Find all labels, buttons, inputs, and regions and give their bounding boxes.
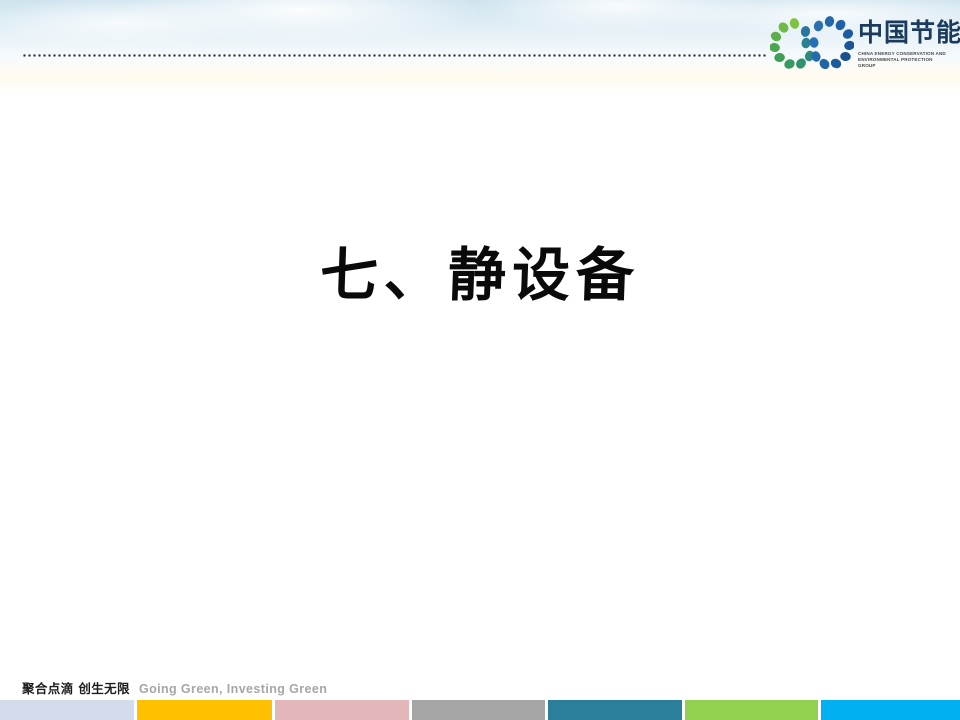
logo-chinese-name: 中国节能: [858, 18, 948, 48]
page-title-container: 七、静设备: [0, 236, 960, 314]
footer-color-bars: [0, 700, 960, 720]
footer-tagline-english: Going Green, Investing Green: [139, 682, 327, 696]
bar-pink: [275, 700, 409, 720]
corporate-logo: 中国节能 CHINA ENERGY CONSERVATION AND ENVIR…: [770, 16, 946, 78]
bar-teal: [548, 700, 682, 720]
bar-amber: [137, 700, 272, 720]
logo-english-name: CHINA ENERGY CONSERVATION AND ENVIRONMEN…: [858, 51, 950, 70]
footer-tagline-chinese: 聚合点滴 创生无限: [22, 678, 130, 697]
logo-wordmark: 中国节能 CHINA ENERGY CONSERVATION AND ENVIR…: [858, 18, 948, 70]
bar-light-blue-gray: [0, 700, 134, 720]
header-dotted-divider: [22, 54, 766, 57]
bar-gray: [412, 700, 545, 720]
bar-cyan: [821, 700, 960, 720]
footer-tagline: 聚合点滴 创生无限 Going Green, Investing Green: [22, 678, 327, 697]
slide-canvas: 中国节能 CHINA ENERGY CONSERVATION AND ENVIR…: [0, 0, 960, 720]
page-title: 七、静设备: [319, 236, 642, 314]
infinity-dots-logo-icon: [770, 16, 854, 72]
bar-green: [685, 700, 818, 720]
